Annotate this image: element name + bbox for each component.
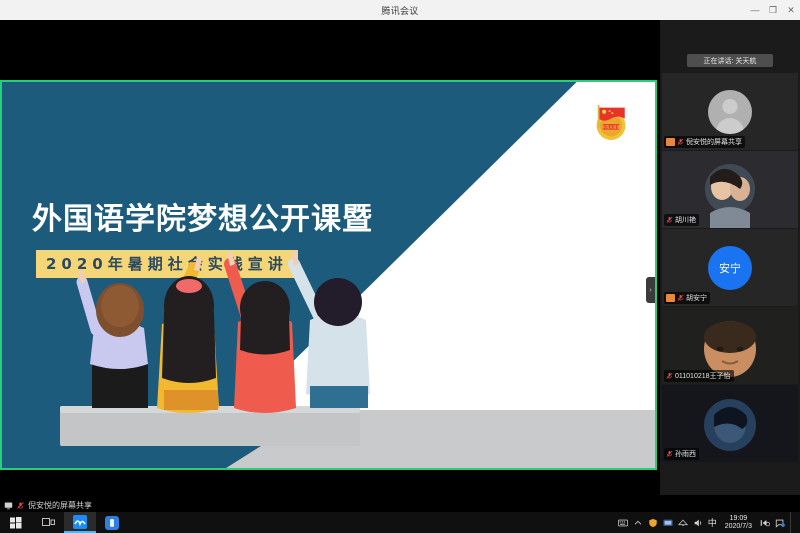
taskbar-tencent-meeting[interactable] — [64, 512, 96, 533]
shared-screen-stage: 中国共青团 外国语学院梦想公开课暨 2020年暑期社会实践宣讲 — [0, 20, 660, 495]
minimize-button[interactable]: — — [746, 0, 764, 20]
microphone-muted-icon — [16, 501, 25, 510]
students-illustration — [52, 220, 382, 450]
taskbar-items — [0, 512, 128, 533]
close-button[interactable]: ✕ — [782, 0, 800, 20]
screen-share-badge-icon — [666, 294, 675, 302]
screen-share-status-bar: 倪安悦的屏幕共享 — [0, 499, 660, 512]
chevron-up-icon[interactable] — [633, 518, 643, 528]
avatar: 安宁 — [708, 246, 752, 290]
ime-indicator[interactable]: 中 — [708, 516, 717, 529]
clock-date: 2020/7/3 — [725, 523, 752, 530]
participant-name: 胡川艳 — [675, 215, 696, 225]
screen-share-frame: 中国共青团 外国语学院梦想公开课暨 2020年暑期社会实践宣讲 — [0, 80, 657, 470]
clock-time: 19:09 — [730, 515, 748, 522]
volume-icon[interactable] — [693, 518, 703, 528]
tencent-meeting-icon — [73, 515, 87, 529]
restore-button[interactable]: ❐ — [764, 0, 782, 20]
windows-logo-icon — [10, 517, 22, 529]
screen-share-badge-icon — [666, 138, 675, 146]
share-panel-handle[interactable]: › — [646, 277, 655, 303]
window-controls: — ❐ ✕ — [746, 0, 800, 20]
active-speaker-label: 正在讲话: 关天航 — [704, 56, 757, 66]
app-icon — [105, 516, 119, 530]
participant-tile[interactable]: 胡川艳 — [662, 151, 798, 228]
title-bar[interactable]: 腾讯会议 — ❐ ✕ — [0, 0, 800, 20]
microphone-muted-icon — [666, 450, 673, 458]
task-view-icon — [42, 517, 55, 528]
clock[interactable]: 19:09 2020/7/3 — [722, 515, 755, 530]
participant-name: 011010218王子怡 — [675, 371, 731, 381]
participant-name: 倪安悦的屏幕共享 — [686, 137, 742, 147]
display-icon[interactable] — [663, 518, 673, 528]
participant-namebar: 胡川艳 — [664, 214, 699, 226]
presentation-slide: 中国共青团 外国语学院梦想公开课暨 2020年暑期社会实践宣讲 — [2, 82, 655, 468]
start-button[interactable] — [0, 512, 32, 533]
monitor-icon — [4, 501, 13, 510]
share-status-text: 倪安悦的屏幕共享 — [28, 500, 92, 511]
tencent-meeting-window: 腾讯会议 — ❐ ✕ — [0, 0, 800, 533]
system-tray: 中 19:09 2020/7/3 — [618, 512, 800, 533]
media-previous-icon[interactable] — [760, 518, 770, 528]
participant-tile[interactable]: 倪安悦的屏幕共享 — [662, 73, 798, 150]
avatar-initials: 安宁 — [719, 260, 741, 276]
participant-namebar: 孙雨西 — [664, 448, 699, 460]
participant-tile[interactable]: 孙雨西 — [662, 385, 798, 462]
network-icon[interactable] — [678, 518, 688, 528]
participant-namebar: 倪安悦的屏幕共享 — [664, 136, 745, 148]
participant-tile[interactable]: 011010218王子怡 — [662, 307, 798, 384]
microphone-muted-icon — [666, 372, 673, 380]
show-desktop-button[interactable] — [790, 512, 796, 533]
action-center-icon[interactable] — [775, 518, 785, 528]
communist-youth-league-emblem: 中国共青团 — [589, 98, 633, 142]
microphone-muted-icon — [677, 294, 684, 302]
security-shield-icon[interactable] — [648, 518, 658, 528]
active-speaker-indicator: 正在讲话: 关天航 — [687, 54, 773, 67]
participant-namebar: 011010218王子怡 — [664, 370, 734, 382]
windows-taskbar: 中 19:09 2020/7/3 — [0, 512, 800, 533]
microphone-muted-icon — [677, 138, 684, 146]
svg-text:中国共青团: 中国共青团 — [602, 125, 621, 130]
microphone-muted-icon — [666, 216, 673, 224]
participant-name: 孙雨西 — [675, 449, 696, 459]
keyboard-icon[interactable] — [618, 518, 628, 528]
participant-name: 胡安宁 — [686, 293, 707, 303]
participant-namebar: 胡安宁 — [664, 292, 710, 304]
window-title: 腾讯会议 — [381, 4, 418, 17]
participant-tile[interactable]: 安宁 胡安宁 — [662, 229, 798, 306]
participant-rail: 正在讲话: 关天航 倪安悦的屏幕共享 — [660, 20, 800, 495]
task-view-button[interactable] — [32, 512, 64, 533]
avatar — [708, 90, 752, 134]
taskbar-app[interactable] — [96, 512, 128, 533]
